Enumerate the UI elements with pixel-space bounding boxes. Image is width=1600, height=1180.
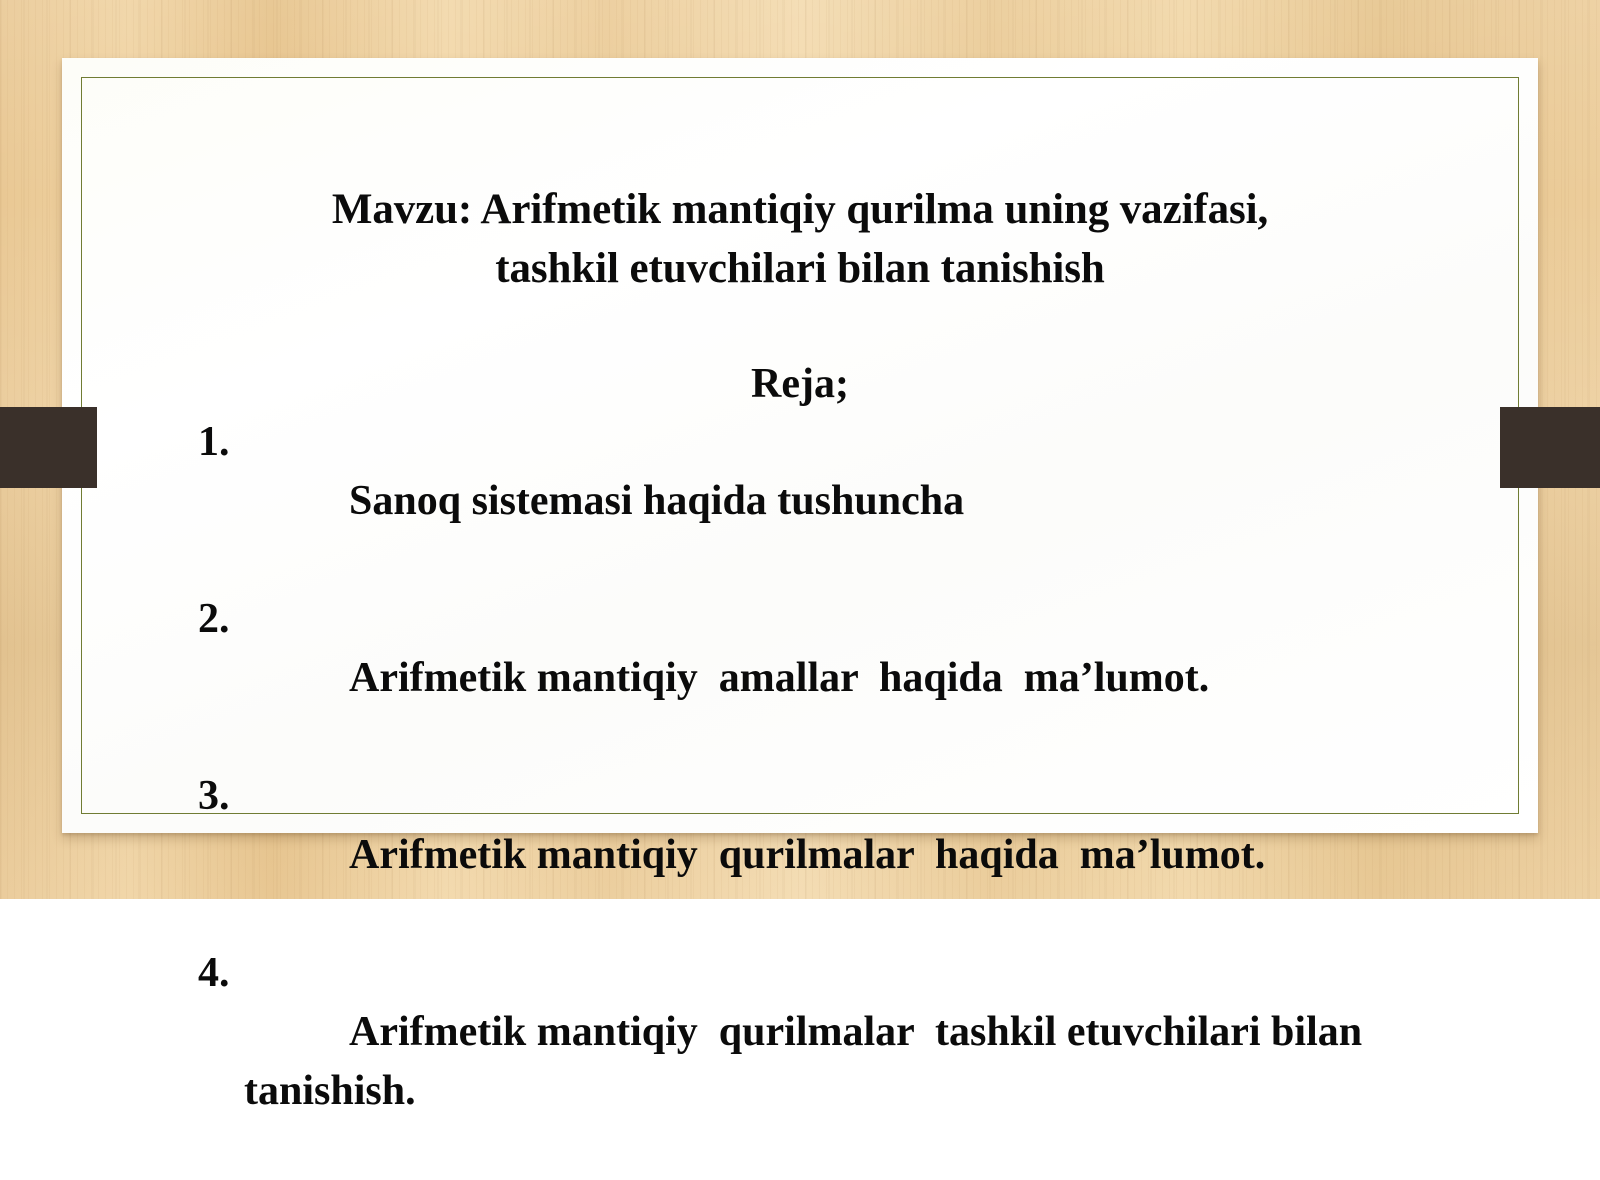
list-item-text: Arifmetik mantiqiy qurilmalar tashkil et… bbox=[244, 1009, 1373, 1114]
list-item: 4.Arifmetik mantiqiy qurilmalar tashkil … bbox=[198, 944, 1458, 1180]
list-item-number: 1. bbox=[198, 413, 230, 472]
list-item-number: 3. bbox=[198, 767, 230, 826]
list-item: 1.Sanoq sistemasi haqida tushuncha bbox=[198, 413, 1458, 590]
left-decorative-tab bbox=[0, 407, 97, 488]
presentation-slide: Mavzu: Arifmetik mantiqiy qurilma uning … bbox=[0, 0, 1600, 899]
list-item: 2.Arifmetik mantiqiy amallar haqida ma’l… bbox=[198, 590, 1458, 767]
list-item-text: Sanoq sistemasi haqida tushuncha bbox=[349, 478, 964, 524]
list-item-text: Arifmetik mantiqiy amallar haqida ma’lum… bbox=[349, 655, 1209, 701]
plan-list: 1.Sanoq sistemasi haqida tushuncha 2.Ari… bbox=[198, 413, 1458, 1180]
slide-title: Mavzu: Arifmetik mantiqiy qurilma uning … bbox=[62, 180, 1538, 298]
list-item-text: Arifmetik mantiqiy qurilmalar haqida ma’… bbox=[349, 832, 1265, 878]
title-line-2: tashkil etuvchilari bilan tanishish bbox=[62, 239, 1538, 298]
right-decorative-tab bbox=[1500, 407, 1600, 488]
slide-content-card: Mavzu: Arifmetik mantiqiy qurilma uning … bbox=[62, 58, 1538, 833]
slide-body: Mavzu: Arifmetik mantiqiy qurilma uning … bbox=[62, 58, 1538, 833]
title-line-1: Mavzu: Arifmetik mantiqiy qurilma uning … bbox=[62, 180, 1538, 239]
list-item-number: 4. bbox=[198, 944, 230, 1003]
plan-heading: Reja; bbox=[62, 358, 1538, 410]
list-item-number: 2. bbox=[198, 590, 230, 649]
list-item: 3.Arifmetik mantiqiy qurilmalar haqida m… bbox=[198, 767, 1458, 944]
